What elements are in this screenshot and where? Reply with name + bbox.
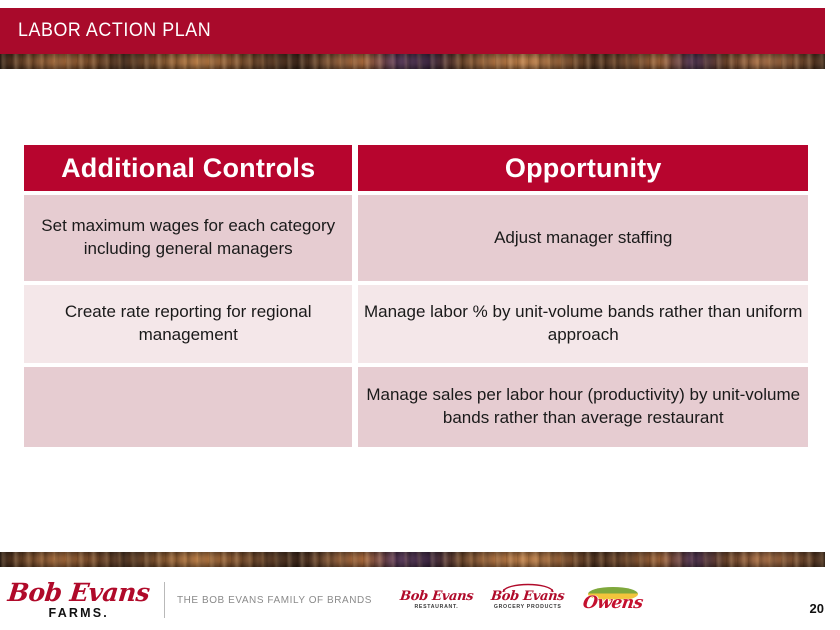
cell-controls-3 — [24, 367, 352, 447]
cell-controls-1: Set maximum wages for each category incl… — [24, 195, 352, 281]
bob-evans-restaurant-script-text: Bob Evans — [399, 590, 474, 603]
cell-opportunity-1: Adjust manager staffing — [358, 195, 808, 281]
owens-logo: Owens — [582, 587, 644, 613]
page-title: LABOR ACTION PLAN — [18, 20, 211, 42]
bob-evans-grocery-script-text: Bob Evans — [490, 590, 565, 603]
bob-evans-grocery-caption-text: GROCERY PRODUCTS — [494, 605, 562, 610]
bob-evans-script-text: Bob Evans — [7, 580, 151, 605]
family-of-brands-label: THE BOB EVANS FAMILY OF BRANDS — [177, 594, 372, 606]
column-header-additional-controls: Additional Controls — [24, 145, 352, 191]
owens-wordmark-text: Owens — [582, 593, 645, 613]
table-row: Set maximum wages for each category incl… — [24, 195, 808, 281]
table-header-row: Additional Controls Opportunity — [24, 145, 808, 191]
labor-action-plan-table: Additional Controls Opportunity Set maxi… — [24, 145, 808, 447]
cell-opportunity-2: Manage labor % by unit-volume bands rath… — [358, 285, 808, 363]
bob-evans-restaurant-logo: Bob Evans RESTAURANT. — [400, 590, 473, 610]
footer-wood-texture-strip — [0, 552, 825, 567]
bob-evans-restaurant-caption-text: RESTAURANT. — [414, 605, 458, 610]
table-row: Manage sales per labor hour (productivit… — [24, 367, 808, 447]
footer-logo-bar: Bob Evans FARMS. THE BOB EVANS FAMILY OF… — [8, 580, 644, 620]
bob-evans-grocery-logo: Bob Evans GROCERY PRODUCTS — [491, 590, 564, 610]
table-row: Create rate reporting for regional manag… — [24, 285, 808, 363]
page-number: 20 — [810, 601, 824, 616]
bob-evans-farms-logo: Bob Evans FARMS. — [8, 580, 150, 620]
cell-opportunity-3: Manage sales per labor hour (productivit… — [358, 367, 808, 447]
cell-controls-2: Create rate reporting for regional manag… — [24, 285, 352, 363]
farms-wordmark-text: FARMS. — [49, 607, 109, 620]
column-header-opportunity: Opportunity — [358, 145, 808, 191]
vertical-divider — [164, 582, 165, 618]
header-wood-texture-strip — [0, 54, 825, 69]
